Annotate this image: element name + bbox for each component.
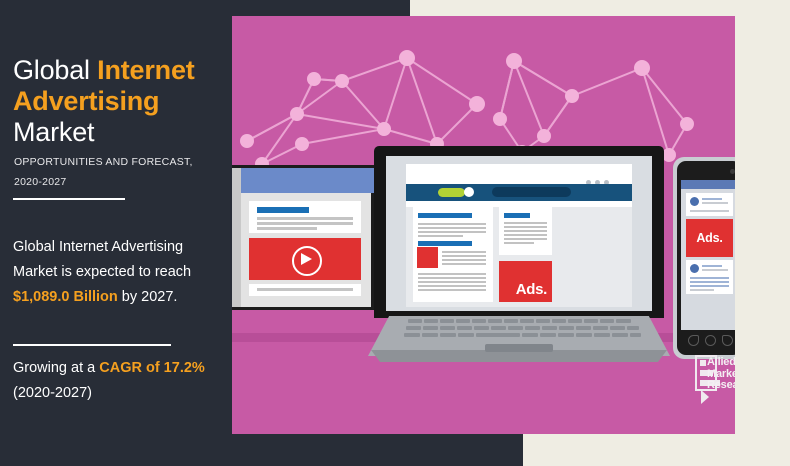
- cream-right-margin: [735, 0, 790, 466]
- text-line: [418, 281, 486, 283]
- phone-nav-bar: [677, 331, 735, 349]
- laptop-keyboard[interactable]: [408, 319, 633, 342]
- text-line: [418, 223, 486, 225]
- text-line: [418, 235, 463, 237]
- market-value-lead-2: Market is expected to reach: [13, 264, 191, 280]
- headline-bar: [418, 213, 472, 218]
- text-line: [418, 285, 486, 287]
- market-value-stat: Global Internet Advertising Market is ex…: [13, 235, 231, 310]
- home-icon[interactable]: [705, 335, 716, 346]
- text-line: [690, 281, 729, 283]
- text-line: [690, 277, 729, 279]
- headline-bar: [418, 241, 472, 246]
- text-line: [690, 289, 714, 291]
- text-line: [690, 210, 729, 212]
- content-column-side: [499, 207, 552, 255]
- toggle-switch-icon[interactable]: [438, 188, 465, 197]
- title-highlight-2: Advertising: [13, 86, 159, 116]
- laptop: Ads.: [368, 146, 670, 390]
- laptop-base: [368, 316, 670, 366]
- title-highlight-1: Internet: [97, 55, 194, 85]
- infographic-root: Ads.: [0, 0, 790, 466]
- text-line: [257, 288, 353, 291]
- text-line: [504, 234, 547, 236]
- laptop-trackpad[interactable]: [485, 344, 553, 352]
- divider-top: [13, 198, 125, 200]
- recent-apps-icon[interactable]: [722, 335, 733, 346]
- phone-screen: Ads.: [681, 180, 735, 330]
- text-line: [418, 277, 486, 279]
- text-line: [418, 227, 486, 229]
- text-line: [702, 202, 728, 204]
- monitor-article-card: [249, 201, 361, 233]
- subtitle-line-1: OPPORTUNITIES AND FORECAST,: [14, 152, 234, 172]
- address-bar-icon[interactable]: [492, 187, 571, 197]
- play-triangle-icon: [301, 253, 312, 265]
- phone-app-header: [681, 180, 735, 189]
- text-line: [442, 251, 486, 253]
- browser-content: Ads.: [406, 207, 632, 307]
- text-line: [442, 259, 486, 261]
- text-line: [504, 226, 547, 228]
- phone-body: Ads.: [677, 161, 735, 355]
- display-ad-banner[interactable]: Ads.: [499, 261, 552, 302]
- text-line: [504, 222, 547, 224]
- cagr-period: (2020-2027): [13, 385, 92, 401]
- text-line: [702, 265, 722, 267]
- text-column: Global Internet Advertising Market OPPOR…: [13, 0, 223, 466]
- browser-toolbar: [406, 184, 632, 201]
- article-headline-bar: [257, 207, 309, 213]
- toggle-knob-icon[interactable]: [464, 187, 474, 197]
- text-line: [257, 217, 353, 220]
- browser-window: Ads.: [406, 164, 632, 307]
- headline-bar: [504, 213, 530, 218]
- logo-wordmark: Allied Market Research: [707, 357, 735, 392]
- content-column-main: [413, 207, 493, 302]
- mobile-ad-banner[interactable]: Ads.: [686, 219, 733, 257]
- video-ad-banner[interactable]: [249, 238, 361, 280]
- smartphone: Ads.: [673, 157, 735, 359]
- laptop-lid: Ads.: [374, 146, 664, 318]
- divider-bottom: [13, 344, 171, 346]
- page-subtitle: OPPORTUNITIES AND FORECAST, 2020-2027: [14, 152, 234, 192]
- market-value-lead-1: Global Internet Advertising: [13, 239, 183, 255]
- allied-market-research-logo: Allied Market Research: [695, 355, 735, 407]
- artwork-panel: Ads.: [232, 16, 735, 434]
- text-line: [504, 242, 534, 244]
- text-line: [418, 289, 486, 291]
- text-line: [257, 227, 317, 230]
- text-line: [702, 198, 722, 200]
- page-title: Global Internet Advertising Market: [13, 55, 228, 148]
- text-line: [442, 263, 486, 265]
- laptop-screen: Ads.: [386, 156, 652, 311]
- cagr-lead: Growing at a: [13, 360, 99, 376]
- phone-camera-icon: [730, 169, 735, 174]
- market-value-trail: by 2027.: [118, 289, 178, 305]
- monitor-header-bar: [241, 168, 377, 193]
- logo-line-1: Allied: [707, 357, 735, 369]
- text-line: [257, 222, 353, 225]
- avatar: [690, 264, 699, 273]
- text-line: [702, 269, 728, 271]
- text-line: [690, 285, 729, 287]
- text-line: [504, 230, 547, 232]
- title-part-2: Market: [13, 117, 94, 147]
- window-dots-icon: [582, 172, 622, 178]
- cagr-stat: Growing at a CAGR of 17.2% (2020-2027): [13, 356, 233, 406]
- text-line: [442, 255, 486, 257]
- feed-post-bottom: [686, 260, 733, 294]
- subtitle-line-2: 2020-2027: [14, 172, 234, 192]
- back-icon[interactable]: [688, 335, 699, 346]
- text-line: [504, 238, 547, 240]
- feed-post-top: [686, 193, 733, 216]
- text-line: [418, 273, 486, 275]
- desktop-monitor: [232, 165, 374, 310]
- cagr-figure: CAGR of 17.2%: [99, 360, 205, 376]
- logo-line-3: Research: [707, 380, 735, 392]
- monitor-footer-card: [249, 284, 361, 296]
- inline-ad-thumb[interactable]: [417, 247, 438, 268]
- avatar: [690, 197, 699, 206]
- market-value-figure: $1,089.0 Billion: [13, 289, 118, 305]
- text-line: [418, 231, 486, 233]
- title-part-1: Global: [13, 55, 97, 85]
